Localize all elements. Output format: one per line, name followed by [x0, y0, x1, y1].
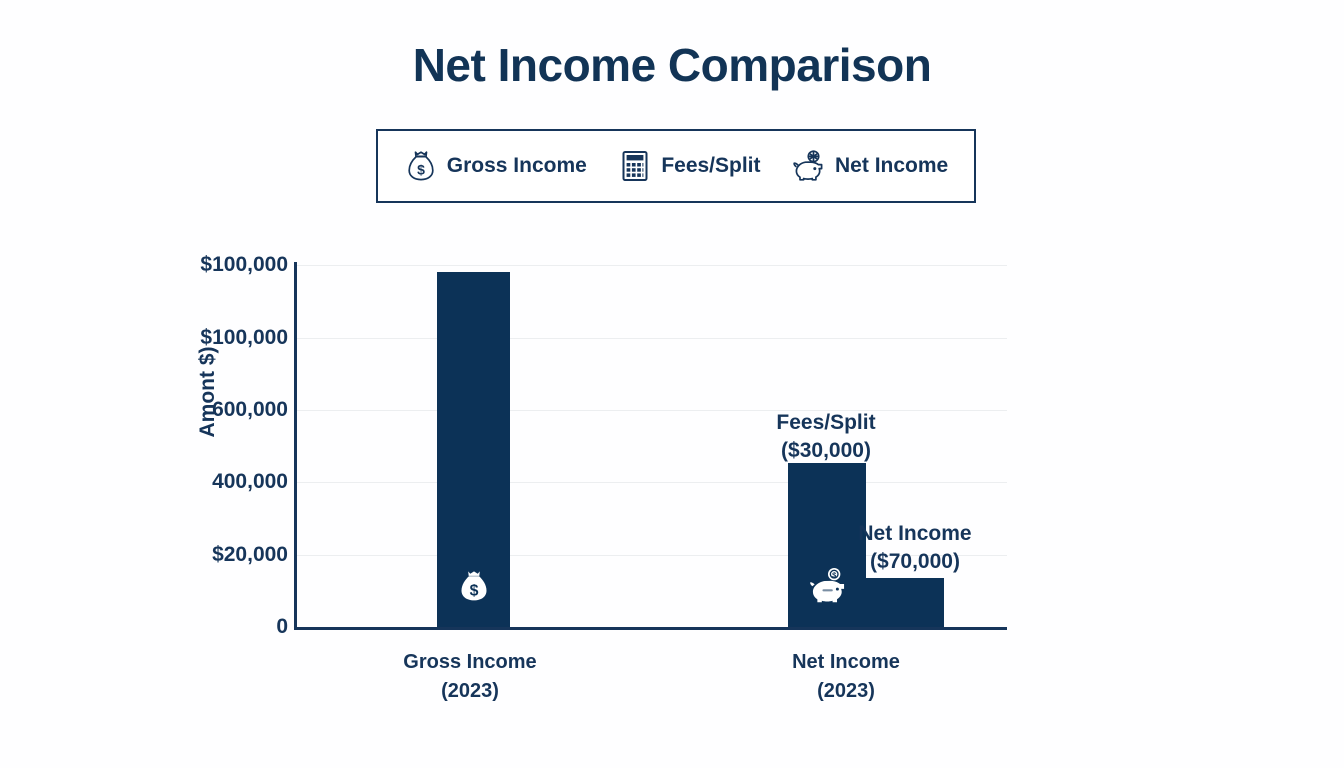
y-tick-label: $20,000	[128, 543, 288, 567]
x-category-gross-income: Gross Income (2023)	[370, 648, 570, 706]
y-tick-label: 400,000	[128, 470, 288, 494]
net-income-annotation-line2: ($70,000)	[852, 548, 978, 576]
fees-split-annotation-line1: Fees/Split	[776, 411, 875, 434]
fees-split-annotation-line2: ($30,000)	[770, 437, 882, 465]
legend-label-net-income: Net Income	[835, 154, 948, 178]
gridline	[297, 482, 1007, 483]
calculator-icon	[618, 149, 652, 183]
gross-income-bar[interactable]: $	[437, 272, 510, 627]
piggy-bank-icon: $	[807, 564, 849, 611]
gridline	[297, 410, 1007, 411]
money-bag-icon: $	[404, 149, 438, 183]
gridline	[297, 265, 1007, 266]
net-income-bar[interactable]	[866, 578, 944, 627]
x-axis-line	[294, 627, 1007, 630]
legend-item-net-income[interactable]: Net Income	[792, 149, 948, 183]
gridline	[297, 338, 1007, 339]
y-tick-label: $100,000	[128, 253, 288, 277]
x-category-net-income-line1: Net Income	[792, 651, 900, 673]
svg-text:$: $	[470, 583, 479, 600]
legend-item-gross-income[interactable]: $ Gross Income	[404, 149, 587, 183]
net-income-annotation-line1: Net Income	[858, 522, 971, 545]
fees-split-annotation: Fees/Split ($30,000)	[770, 409, 882, 464]
x-category-gross-income-line1: Gross Income	[403, 651, 536, 673]
svg-text:$: $	[417, 161, 425, 177]
legend-item-fees-split[interactable]: Fees/Split	[618, 149, 760, 183]
chart-legend: $ Gross Income	[376, 129, 976, 203]
y-axis-line	[294, 262, 297, 630]
y-axis-title: Amont $)	[196, 312, 220, 472]
legend-label-fees-split: Fees/Split	[661, 154, 760, 178]
x-category-gross-income-line2: (2023)	[441, 680, 499, 702]
net-income-annotation: Net Income ($70,000)	[852, 520, 978, 575]
legend-label-gross-income: Gross Income	[447, 154, 587, 178]
x-category-net-income: Net Income (2023)	[746, 648, 946, 706]
chart-canvas: Net Income Comparison $ Gross Income	[0, 0, 1344, 768]
y-tick-label: 0	[128, 615, 288, 639]
money-bag-icon: $	[456, 568, 492, 609]
piggy-bank-icon	[792, 149, 826, 183]
x-category-net-income-line2: (2023)	[817, 680, 875, 702]
